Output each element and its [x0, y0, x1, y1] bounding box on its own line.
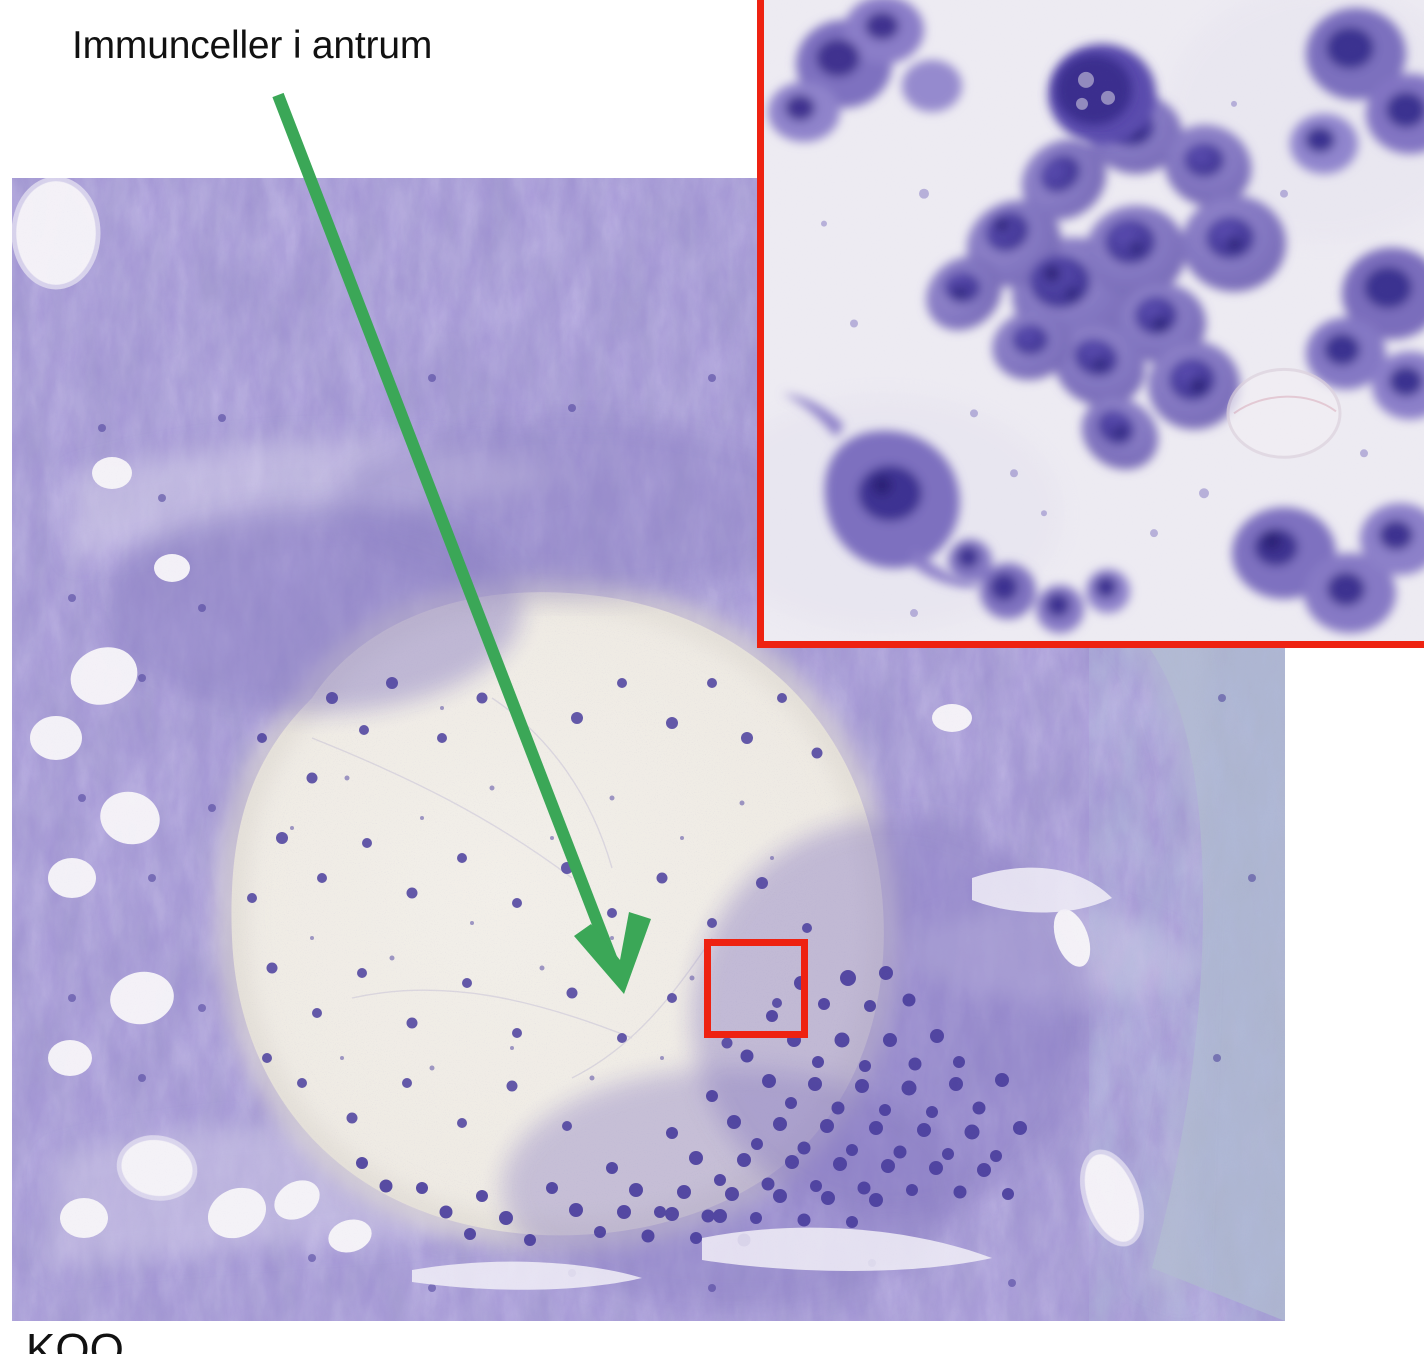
page-title: Immunceller i antrum: [72, 24, 432, 69]
bottom-caption: KOO: [26, 1328, 124, 1354]
region-of-interest-box: [704, 939, 808, 1038]
inset-high-magnification-panel: [757, 0, 1424, 648]
inset-canvas: [764, 0, 1424, 641]
